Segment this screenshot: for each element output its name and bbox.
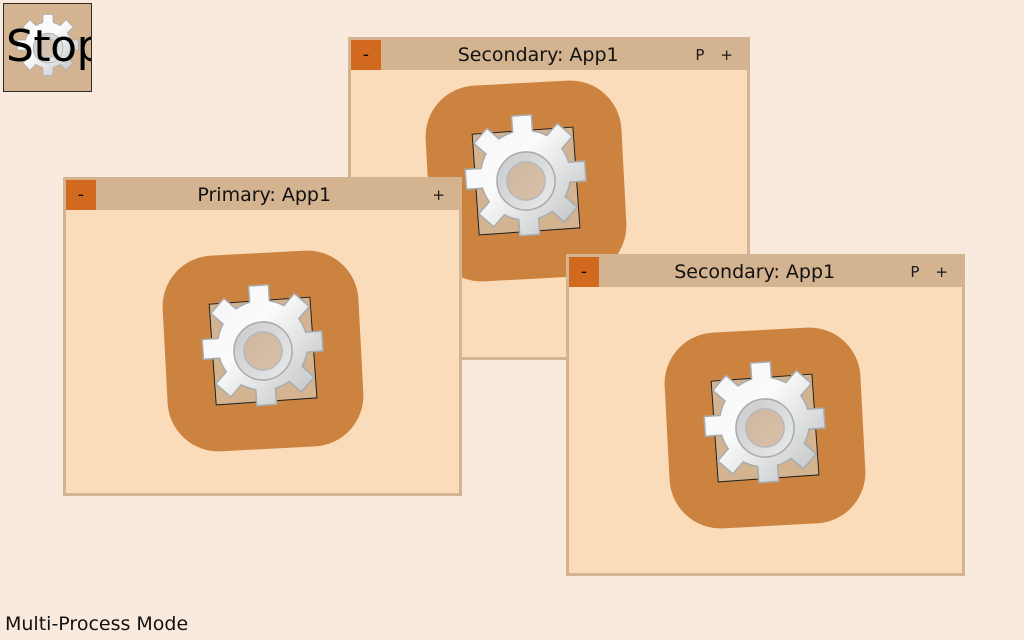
maximize-button[interactable]: + (720, 48, 733, 63)
minimize-button[interactable]: - (66, 180, 96, 210)
stop-button-label: Stop (4, 21, 91, 73)
status-text: Multi-Process Mode (5, 613, 188, 635)
minimize-button[interactable]: - (351, 40, 381, 70)
window-content (569, 287, 962, 573)
process-button[interactable]: P (910, 265, 919, 280)
titlebar[interactable]: - Primary: App1 + (66, 180, 459, 210)
titlebar-buttons: P + (910, 257, 962, 287)
app-artwork (667, 330, 863, 526)
gear-icon (181, 269, 344, 432)
titlebar[interactable]: - Secondary: App1 P + (351, 40, 747, 70)
window-primary-app1[interactable]: - Primary: App1 + (63, 177, 462, 496)
titlebar[interactable]: - Secondary: App1 P + (569, 257, 962, 287)
window-title: Secondary: App1 (381, 40, 695, 70)
titlebar-buttons: P + (695, 40, 747, 70)
app-artwork (165, 253, 361, 449)
minimize-button[interactable]: - (569, 257, 599, 287)
stop-button[interactable]: Stop (3, 3, 92, 92)
window-title: Secondary: App1 (599, 257, 910, 287)
gear-icon (683, 346, 846, 509)
maximize-button[interactable]: + (432, 188, 445, 203)
gear-icon (444, 99, 607, 262)
desktop-background: - Secondary: App1 P + (0, 0, 1024, 640)
process-button[interactable]: P (695, 48, 704, 63)
window-secondary-app1-bottom[interactable]: - Secondary: App1 P + (566, 254, 965, 576)
titlebar-buttons: + (432, 180, 459, 210)
window-content (66, 210, 459, 493)
maximize-button[interactable]: + (935, 265, 948, 280)
window-title: Primary: App1 (96, 180, 432, 210)
